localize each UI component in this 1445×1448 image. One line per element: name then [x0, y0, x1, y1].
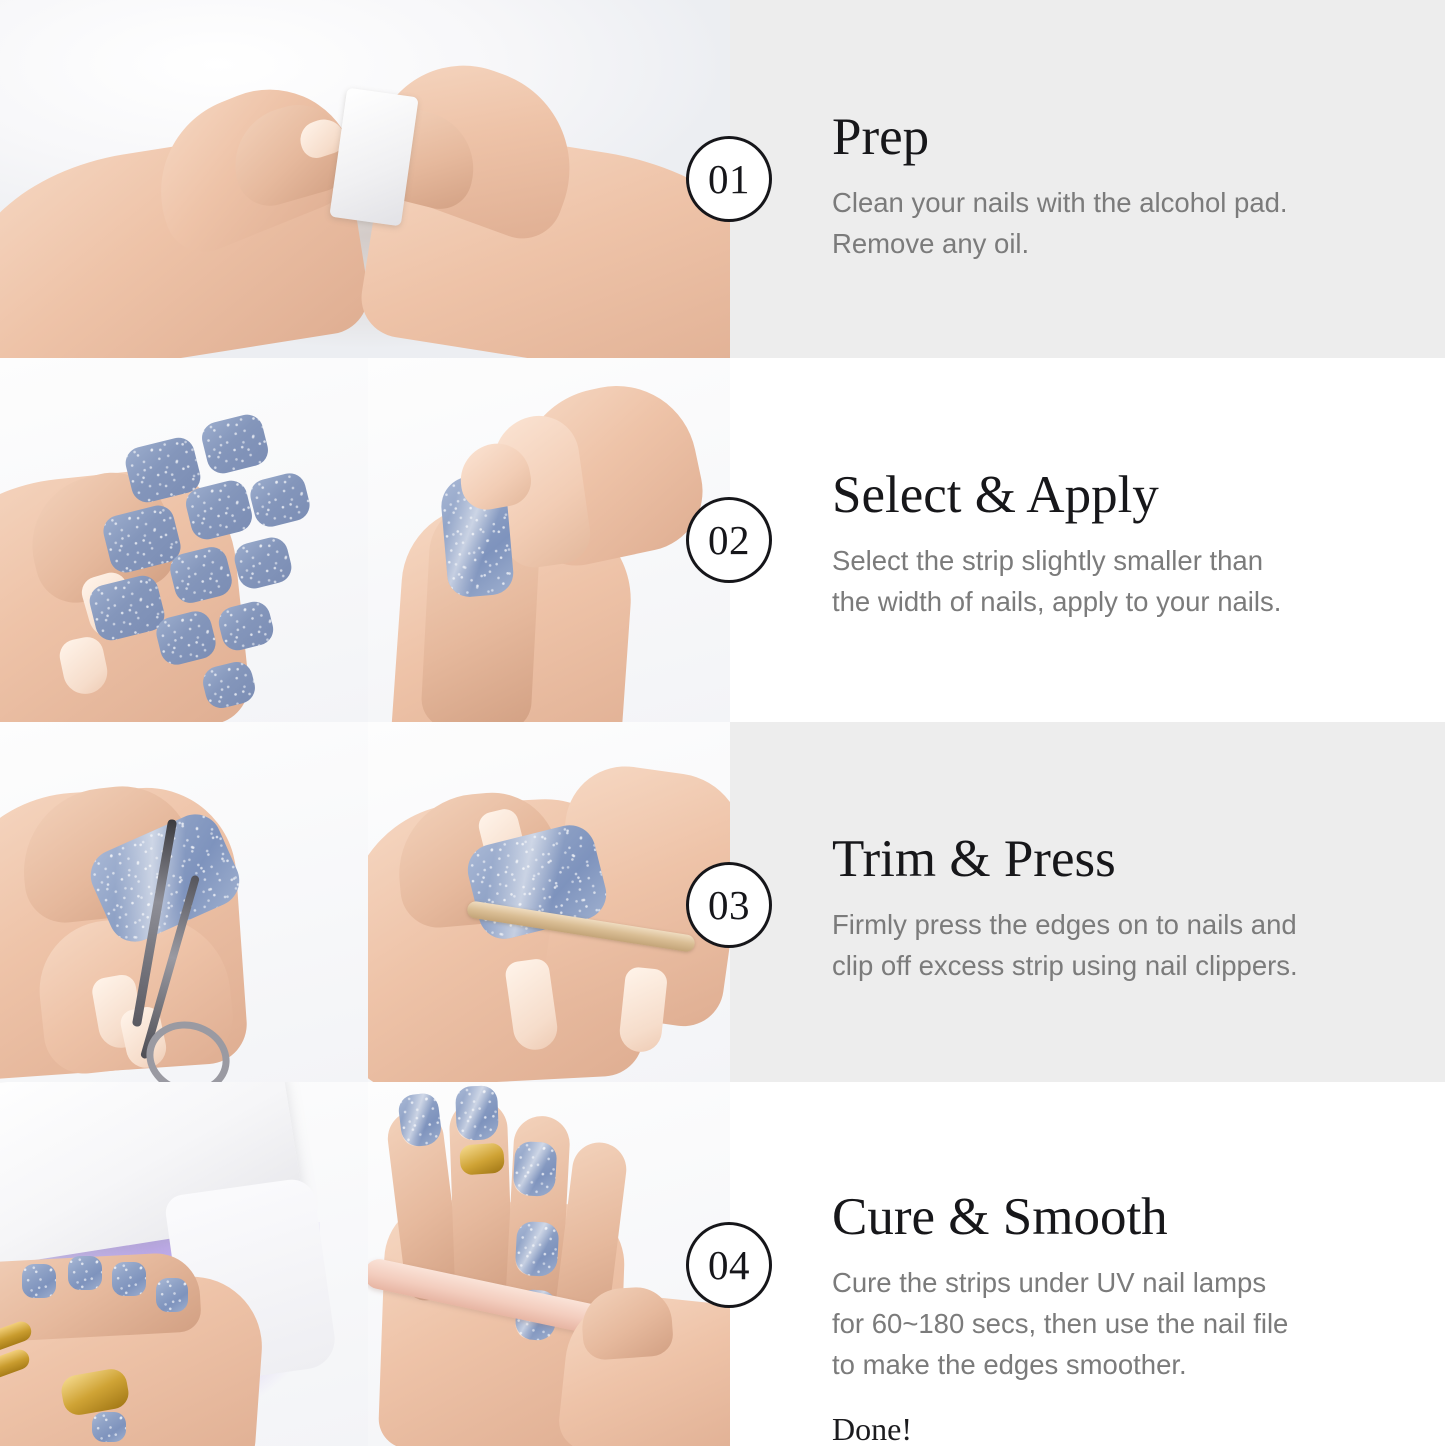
step-4-text-panel: 04 Cure & Smooth Cure the strips under U… [730, 1082, 1445, 1446]
step-4-footnote: Done! [832, 1411, 1288, 1448]
step-number-badge-04: 04 [686, 1222, 772, 1308]
step-2-photos [0, 358, 730, 722]
step-3-photos [0, 722, 730, 1082]
step-1-photos [0, 0, 730, 358]
step-4-text: Cure & Smooth Cure the strips under UV n… [832, 1190, 1288, 1448]
step-row-1: 01 Prep Clean your nails with the alcoho… [0, 0, 1445, 358]
step-1-text: Prep Clean your nails with the alcohol p… [832, 110, 1288, 264]
step-row-3: 03 Trim & Press Firmly press the edges o… [0, 722, 1445, 1082]
step-3-text: Trim & Press Firmly press the edges on t… [832, 832, 1298, 986]
step-3-title: Trim & Press [832, 832, 1298, 888]
step-1-title: Prep [832, 110, 1288, 166]
step-4-title: Cure & Smooth [832, 1190, 1288, 1246]
photo-strip-applied-to-thumb [368, 358, 730, 722]
photo-hand-holding-strip-sheet [0, 358, 368, 722]
step-row-4: 04 Cure & Smooth Cure the strips under U… [0, 1082, 1445, 1446]
gold-ring-4 [459, 1143, 505, 1176]
step-number-badge-01: 01 [686, 136, 772, 222]
photo-hand-under-uv-lamp [0, 1082, 368, 1446]
step-2-text-panel: 02 Select & Apply Select the strip sligh… [730, 358, 1445, 722]
photo-nail-file-smoothing-edges [368, 1082, 730, 1446]
photo-scissors-trimming-nail-strip [0, 722, 368, 1082]
step-4-photos [0, 1082, 730, 1446]
instruction-infographic: 01 Prep Clean your nails with the alcoho… [0, 0, 1445, 1446]
photo-cuticle-stick-pressing-edges [368, 722, 730, 1082]
step-3-text-panel: 03 Trim & Press Firmly press the edges o… [730, 722, 1445, 1082]
step-1-description: Clean your nails with the alcohol pad. R… [832, 182, 1288, 264]
step-row-2: 02 Select & Apply Select the strip sligh… [0, 358, 1445, 722]
step-4-description: Cure the strips under UV nail lamps for … [832, 1262, 1288, 1385]
step-3-description: Firmly press the edges on to nails and c… [832, 904, 1298, 986]
step-2-title: Select & Apply [832, 468, 1281, 524]
step-1-text-panel: 01 Prep Clean your nails with the alcoho… [730, 0, 1445, 358]
step-2-text: Select & Apply Select the strip slightly… [832, 468, 1281, 622]
step-number-badge-02: 02 [686, 497, 772, 583]
step-2-description: Select the strip slightly smaller than t… [832, 540, 1281, 622]
step-number-badge-03: 03 [686, 862, 772, 948]
photo-hands-holding-alcohol-pad [0, 0, 730, 358]
